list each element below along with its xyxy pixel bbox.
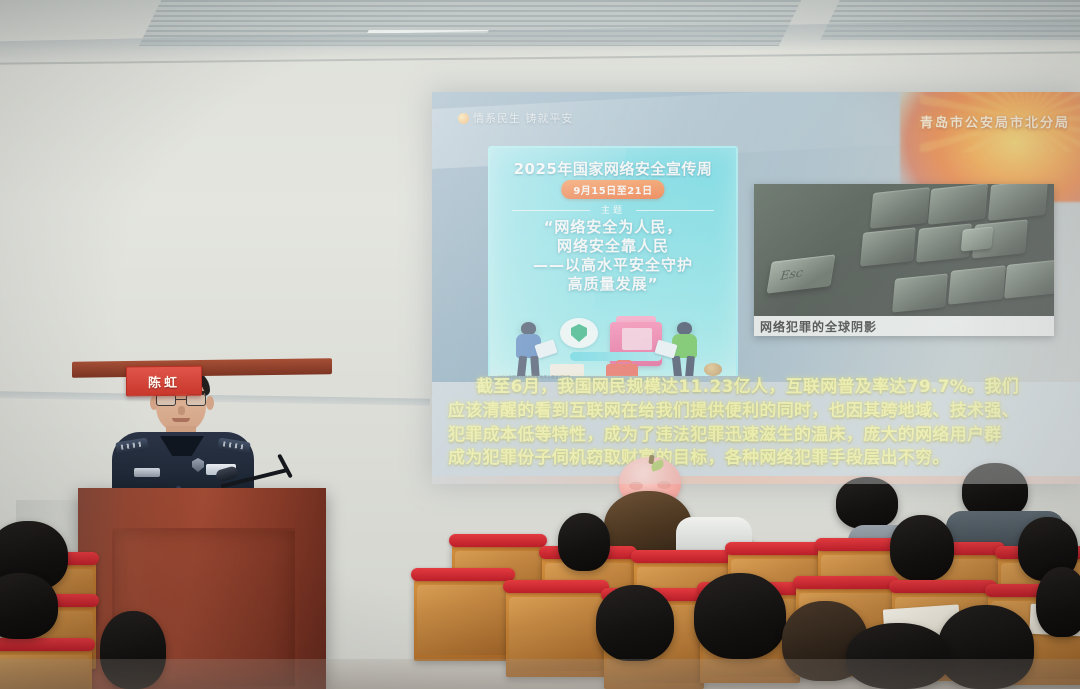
progress-bar-shape (570, 352, 662, 361)
nose (178, 406, 185, 415)
person-leg (685, 356, 695, 376)
escape-key: Esc (767, 254, 836, 293)
mouth (172, 418, 190, 422)
glasses-lens-right (186, 394, 206, 406)
audience-head (596, 585, 674, 661)
projection-screen: 情系民生 铸就平安 青岛市公安局市北分局 2025年国家网络安全宣传周 9月15… (432, 92, 1080, 484)
glasses-bridge (176, 399, 186, 400)
audience-head (558, 513, 610, 571)
paragraph-line-3: 犯罪成本低等特性，成为了违法犯罪迅速滋生的温床，庞大的网络用户群 (432, 424, 1080, 448)
person-leg (517, 356, 527, 376)
audience-head (694, 573, 786, 659)
keycap (948, 265, 1006, 304)
keycap (928, 184, 988, 225)
divider-left (512, 210, 590, 211)
keycap (1004, 259, 1054, 298)
divider-right (636, 210, 714, 211)
slide-theme-quote: “网络安全为人民， 网络安全靠人民 ——以高水平安全守护 高质量发展” (496, 218, 730, 294)
slide-card-title: 2025年国家网络安全宣传周 (490, 158, 736, 179)
ear (206, 396, 214, 410)
keycap (860, 227, 916, 266)
paragraph-line-1: 截至6月，我国网民规模达11.23亿人，互联网普及率达79.7%。我们 (432, 376, 1080, 400)
audience-head (890, 515, 954, 581)
slide-header-right-org: 青岛市公安局市北分局 (920, 112, 1070, 131)
person-leg (530, 356, 540, 376)
keyboard-photo: Esc 网络犯罪的全球阴影 2025年国家网络安全宣传周主题宣传海报 (754, 184, 1054, 336)
quote-line-1: “网络安全为人民， (496, 218, 730, 237)
lecture-hall-photo: 情系民生 铸就平安 青岛市公安局市北分局 2025年国家网络安全宣传周 9月15… (0, 0, 1080, 689)
speaker-nameplate: 陈虹 (126, 366, 202, 397)
floor (0, 659, 1080, 689)
seat (414, 577, 512, 661)
slide-illustration (498, 316, 728, 376)
podium-top-edge (72, 358, 332, 378)
emblem-dot-icon (458, 113, 469, 124)
slide-header-left-text: 情系民生 铸就平安 (473, 110, 574, 126)
keycap-power-icon (961, 226, 993, 251)
audience-head (1036, 567, 1080, 637)
quote-line-4: 高质量发展” (496, 275, 730, 294)
keycap (892, 273, 948, 312)
escape-key-label: Esc (780, 265, 804, 283)
photo-caption: 网络犯罪的全球阴影 (754, 316, 1054, 336)
speaker-nameplate-text: 陈虹 (148, 371, 180, 390)
slide-theme-card: 2025年国家网络安全宣传周 9月15日至21日 主题 “网络安全为人民， 网络… (488, 146, 738, 376)
paragraph-line-2: 应该清醒的看到互联网在给我们提供便利的同时，也因其跨地域、技术强、 (432, 400, 1080, 424)
slide-date-badge: 9月15日至21日 (561, 180, 664, 199)
quote-line-2: 网络安全靠人民 (496, 237, 730, 256)
document-icon (622, 328, 652, 350)
quote-line-3: ——以高水平安全守护 (496, 256, 730, 275)
person-leg (672, 356, 682, 376)
audience-seating (0, 455, 1080, 689)
keycap (988, 184, 1048, 221)
slide-header-left: 情系民生 铸就平安 (458, 110, 574, 126)
keycap (870, 187, 930, 229)
audience-head (836, 477, 898, 529)
